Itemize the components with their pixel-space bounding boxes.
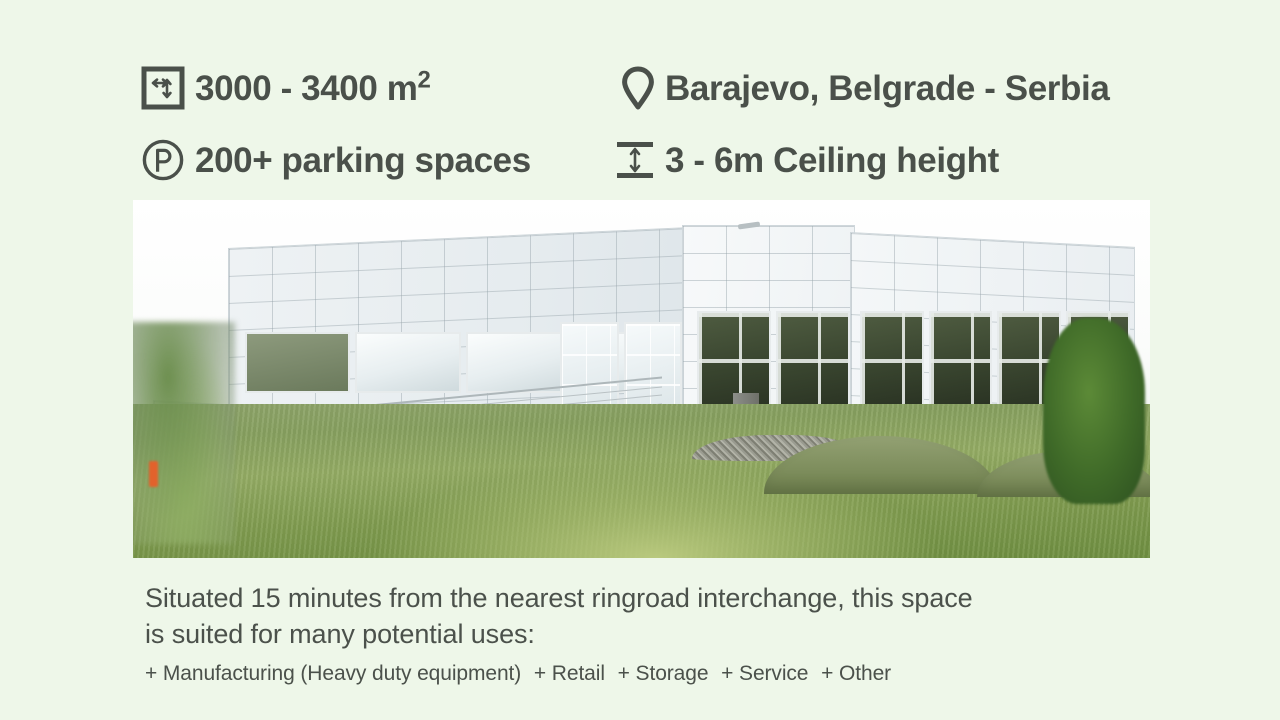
description-block: Situated 15 minutes from the nearest rin… bbox=[145, 580, 1155, 688]
use-item: + Retail bbox=[534, 662, 605, 685]
photo-orange-marker bbox=[149, 461, 158, 487]
building-photo bbox=[133, 200, 1150, 558]
slide-root: 3000 - 3400 m2 Barajevo, Belgrade - Serb… bbox=[0, 0, 1280, 720]
spec-location: Barajevo, Belgrade - Serbia bbox=[611, 60, 1171, 116]
spec-ceiling-height-label: 3 - 6m Ceiling height bbox=[665, 143, 999, 178]
specs-row-2: 200+ parking spaces 3 - 6m Ceiling heigh… bbox=[141, 124, 1201, 196]
photo-window-band-centre bbox=[697, 311, 850, 411]
spec-parking-label: 200+ parking spaces bbox=[195, 143, 531, 178]
spec-ceiling-height: 3 - 6m Ceiling height bbox=[611, 132, 1171, 188]
ceiling-height-icon bbox=[611, 132, 665, 188]
location-pin-icon bbox=[611, 60, 665, 116]
specs-header: 3000 - 3400 m2 Barajevo, Belgrade - Serb… bbox=[141, 52, 1201, 196]
spec-area-superscript: 2 bbox=[417, 66, 430, 93]
building-photo-canvas bbox=[133, 200, 1150, 558]
use-item: + Storage bbox=[618, 662, 709, 685]
use-item: + Manufacturing (Heavy duty equipment) bbox=[145, 662, 521, 685]
spec-area-label: 3000 - 3400 m2 bbox=[195, 71, 430, 106]
use-item: + Service bbox=[721, 662, 808, 685]
description-lede-line-2: is suited for many potential uses: bbox=[145, 616, 1155, 652]
description-lede-line-1: Situated 15 minutes from the nearest rin… bbox=[145, 580, 1155, 616]
spec-area: 3000 - 3400 m2 bbox=[141, 60, 611, 116]
photo-foreground-foliage bbox=[133, 322, 235, 544]
specs-row-1: 3000 - 3400 m2 Barajevo, Belgrade - Serb… bbox=[141, 52, 1201, 124]
area-dimensions-icon bbox=[141, 60, 195, 116]
uses-list: + Manufacturing (Heavy duty equipment) +… bbox=[145, 660, 1155, 688]
parking-circle-p-icon bbox=[141, 132, 195, 188]
spec-parking: 200+ parking spaces bbox=[141, 132, 611, 188]
description-lede: Situated 15 minutes from the nearest rin… bbox=[145, 580, 1155, 652]
spec-location-label: Barajevo, Belgrade - Serbia bbox=[665, 71, 1109, 106]
use-item: + Other bbox=[821, 662, 891, 685]
photo-tree bbox=[1043, 318, 1145, 504]
